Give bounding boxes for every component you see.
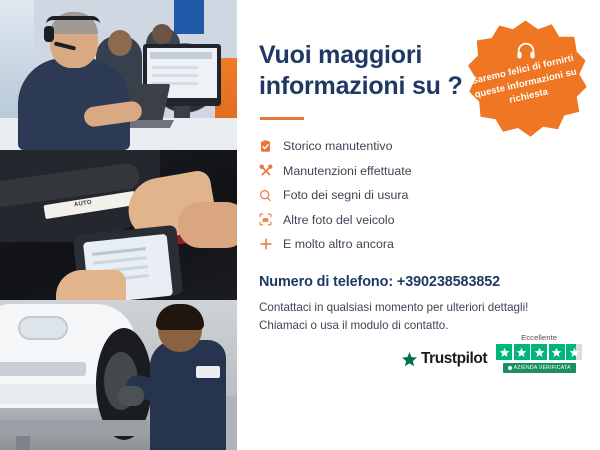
list-item-label: E molto altro ancora (283, 237, 394, 251)
photo-call-center-agent (0, 0, 237, 150)
clipboard-check-icon (259, 140, 283, 153)
mechanic-hair (156, 304, 204, 330)
car-lift-leg (16, 436, 30, 450)
uniform-logo-patch (196, 366, 220, 378)
callout-badge: Saremo felici di fornirti queste informa… (463, 18, 588, 143)
star-filled (549, 344, 565, 360)
trustpilot-rating[interactable]: Trustpilot Eccellente AZIENDA VERIFICATA (401, 333, 582, 373)
mechanic-body (150, 340, 226, 450)
list-item-label: Foto dei segni di usura (283, 188, 408, 202)
trustpilot-logo: Trustpilot (401, 350, 487, 373)
technician-hand-holding-tablet (56, 270, 126, 300)
list-item: Altre foto del veicolo (259, 208, 600, 233)
list-item-label: Altre foto del veicolo (283, 213, 395, 227)
background-colleague-head (108, 30, 132, 56)
phone-number[interactable]: Numero di telefono: +390238583852 (259, 274, 600, 290)
headset-earcup (44, 26, 54, 42)
content-panel: Vuoi maggiori informazioni su ? Storico … (237, 0, 600, 450)
star-partial (566, 344, 582, 360)
advertisement-banner: AUTO Vuoi maggiori inf (0, 0, 600, 450)
photo-body-measurement: AUTO (0, 150, 237, 300)
tools-cross-icon (259, 164, 283, 178)
plus-icon (259, 237, 283, 251)
star-rating (496, 344, 582, 360)
contact-subtext-line1: Contattaci in qualsiasi momento per ulte… (259, 299, 600, 318)
magnifier-icon (259, 189, 283, 202)
title-divider (260, 117, 304, 120)
monitor-stand (174, 106, 190, 118)
status-badge: AZIENDA VERIFICATA (503, 363, 576, 373)
page-title: Vuoi maggiori informazioni su ? (259, 40, 474, 101)
car-lift-platform (0, 420, 148, 436)
list-item-label: Manutenzioni effettuate (283, 164, 412, 178)
trustpilot-score-block: Eccellente AZIENDA VERIFICATA (496, 333, 582, 373)
monitor-screen-lines (152, 66, 198, 69)
photo-collage: AUTO (0, 0, 237, 450)
star-filled (531, 344, 547, 360)
wall-poster (174, 0, 204, 34)
feature-list: Storico manutentivo Manutenzioni effettu… (259, 134, 600, 257)
contact-subtext: Contattaci in qualsiasi momento per ulte… (259, 299, 600, 337)
photo-wheel-inspection (0, 300, 237, 450)
trustpilot-wordmark: Trustpilot (421, 350, 487, 368)
list-item: E molto altro ancora (259, 232, 600, 257)
list-item: Manutenzioni effettuate (259, 159, 600, 184)
mechanic-glove (118, 386, 144, 406)
headset-band (46, 16, 100, 24)
vehicle-scan-icon (259, 213, 283, 226)
car-headlight (18, 316, 68, 340)
list-item: Foto dei segni di usura (259, 183, 600, 208)
star-filled (496, 344, 512, 360)
star-filled (514, 344, 530, 360)
technician-forearm (178, 202, 237, 248)
list-item-label: Storico manutentivo (283, 139, 393, 153)
verified-label: AZIENDA VERIFICATA (514, 365, 571, 371)
rating-label: Eccellente (521, 333, 557, 342)
car-grille (0, 362, 86, 376)
verified-dot-icon (508, 366, 512, 370)
trustpilot-star-icon (401, 351, 418, 368)
monitor-screen-toolbar (150, 52, 212, 59)
background-colleague-far-head (152, 24, 172, 44)
